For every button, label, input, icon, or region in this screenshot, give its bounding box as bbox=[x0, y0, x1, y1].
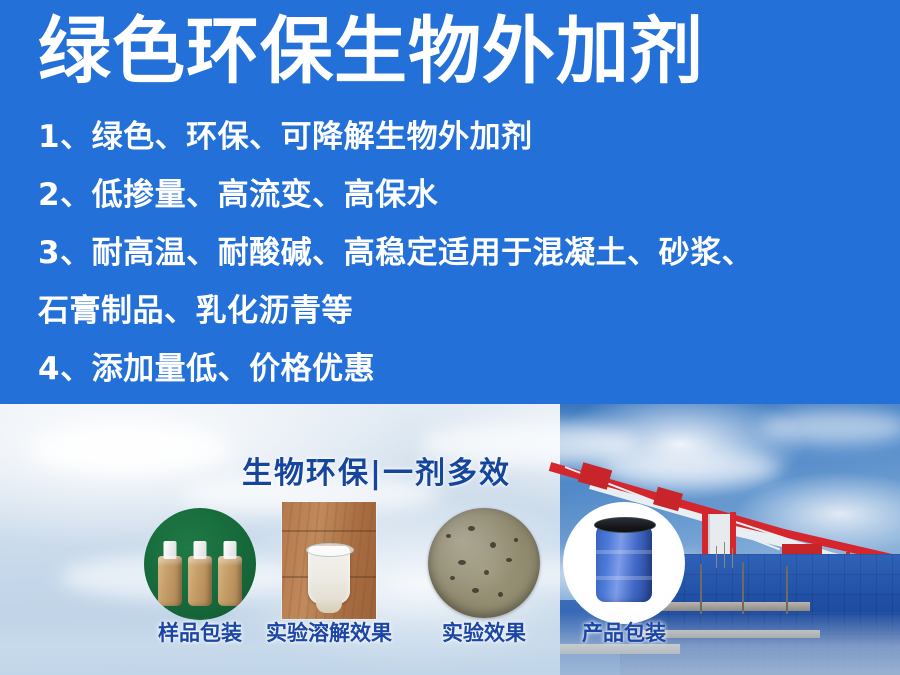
tile-caption-dissolution-effect: 实验溶解效果 bbox=[259, 620, 399, 646]
tile-caption-sample-packaging: 样品包装 bbox=[130, 620, 270, 646]
feature-item-4: 4、添加量低、价格优惠 bbox=[38, 340, 878, 398]
sample-bottle bbox=[218, 556, 242, 606]
sample-bottle bbox=[188, 556, 212, 606]
feature-item-3: 3、耐高温、耐酸碱、高稳定适用于混凝土、砂浆、 bbox=[38, 224, 878, 282]
drum-lid bbox=[594, 517, 656, 533]
feature-item-1: 1、绿色、环保、可降解生物外加剂 bbox=[38, 108, 878, 166]
scaffold-pole bbox=[700, 564, 702, 614]
scaffold-pole bbox=[742, 562, 744, 614]
drum-ring bbox=[596, 576, 652, 580]
rebar bbox=[724, 542, 725, 568]
aggregate-speck bbox=[450, 576, 455, 580]
glass-beaker bbox=[308, 546, 350, 604]
bottle-highlight bbox=[188, 556, 212, 566]
aggregate-speck bbox=[484, 570, 489, 575]
crane-counterweight bbox=[578, 462, 612, 489]
aggregate-speck bbox=[468, 526, 475, 531]
scene-headline: 生物环保|一剂多效 bbox=[242, 455, 511, 493]
drum-ring bbox=[596, 550, 652, 554]
rebar bbox=[732, 548, 733, 568]
aggregate-speck bbox=[490, 542, 496, 548]
glass-base bbox=[316, 599, 342, 613]
dissolution-test-glass-photo bbox=[282, 502, 376, 619]
aggregate-speck bbox=[498, 592, 503, 597]
aggregate-speck bbox=[514, 538, 518, 542]
wood-grain-seam bbox=[282, 530, 376, 532]
sample-bottles-photo bbox=[144, 508, 256, 620]
glass-rim bbox=[306, 543, 354, 557]
aggregate-speck bbox=[472, 588, 479, 593]
product-poster: 绿色环保生物外加剂 1、绿色、环保、可降解生物外加剂 2、低掺量、高流变、高保水… bbox=[0, 0, 900, 675]
headline-panel: 绿色环保生物外加剂 1、绿色、环保、可降解生物外加剂 2、低掺量、高流变、高保水… bbox=[0, 0, 900, 404]
aggregate-speck bbox=[458, 560, 466, 565]
blue-plastic-drum bbox=[596, 524, 652, 602]
cloud-shape bbox=[30, 426, 230, 474]
feature-item-3-continued: 石膏制品、乳化沥青等 bbox=[38, 282, 878, 340]
bottle-highlight bbox=[218, 556, 242, 566]
feature-list: 1、绿色、环保、可降解生物外加剂 2、低掺量、高流变、高保水 3、耐高温、耐酸碱… bbox=[38, 108, 878, 398]
tile-caption-test-effect: 实验效果 bbox=[414, 620, 554, 646]
blue-drum-packaging-photo bbox=[563, 502, 685, 624]
mortar-spread-test-photo bbox=[428, 508, 540, 618]
tile-caption-product-packaging: 产品包装 bbox=[554, 620, 694, 646]
sample-bottle bbox=[158, 556, 182, 606]
feature-item-2: 2、低掺量、高流变、高保水 bbox=[38, 166, 878, 224]
bottle-highlight bbox=[158, 556, 182, 566]
aggregate-speck bbox=[446, 534, 451, 538]
rebar bbox=[716, 546, 717, 568]
page-title: 绿色环保生物外加剂 bbox=[38, 6, 868, 98]
scaffold-pole bbox=[786, 566, 788, 614]
aggregate-speck bbox=[506, 558, 512, 562]
